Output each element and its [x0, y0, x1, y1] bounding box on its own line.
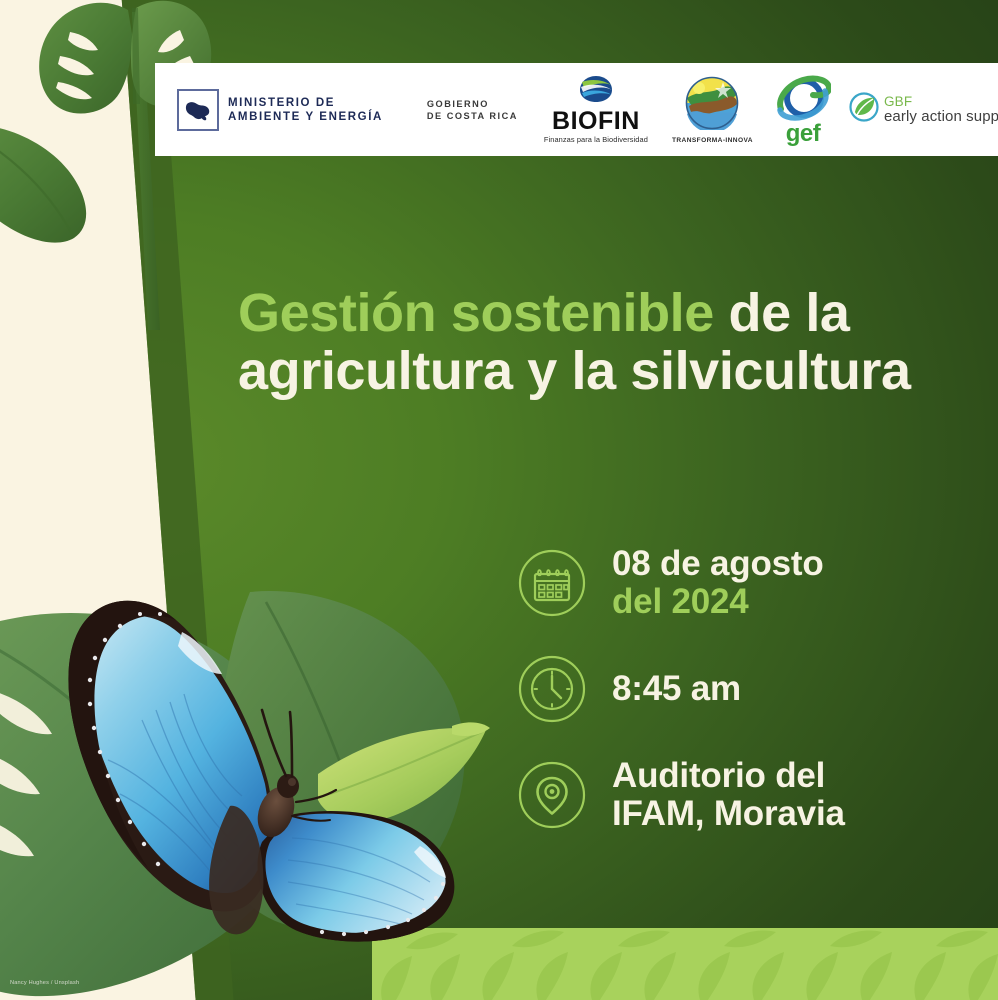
- date-line1: 08 de agosto: [612, 544, 824, 583]
- poster: MINISTERIO DE AMBIENTE Y ENERGÍA GOBIERN…: [0, 0, 998, 1000]
- costa-rica-map-icon: [177, 89, 219, 131]
- calendar-icon: [518, 549, 586, 617]
- logo-transforma-innova: TRANSFORMA-INNOVA: [672, 76, 753, 144]
- detail-row-date: 08 de agosto del 2024: [518, 545, 988, 621]
- transforma-label: TRANSFORMA-INNOVA: [672, 137, 753, 144]
- transforma-landscape-icon: [685, 76, 739, 135]
- logo-biofin: BIOFIN Finanzas para la Biodiversidad: [544, 76, 648, 144]
- gbf-label: GBF: [884, 95, 998, 109]
- detail-text-location: Auditorio del IFAM, Moravia: [612, 757, 845, 833]
- detail-row-time: 8:45 am: [518, 655, 988, 723]
- location-pin-icon: [518, 761, 586, 829]
- gbf-leaf-icon: [849, 92, 879, 127]
- location-line2: IFAM, Moravia: [612, 794, 845, 833]
- biofin-tagline: Finanzas para la Biodiversidad: [544, 135, 648, 144]
- clock-icon: [518, 655, 586, 723]
- photo-credit: Nancy Hughes / Unsplash: [10, 980, 79, 986]
- logo-gobierno-costa-rica: GOBIERNO DE COSTA RICA: [423, 98, 518, 122]
- detail-text-date: 08 de agosto del 2024: [612, 545, 824, 621]
- logo-gbf-early-action-support: GBF early action support: [849, 92, 998, 127]
- biofin-wordmark: BIOFIN: [552, 108, 640, 134]
- location-line1: Auditorio del: [612, 756, 825, 795]
- gef-wordmark: gef: [786, 124, 821, 144]
- event-details: 08 de agosto del 2024 8:45 am: [518, 545, 988, 833]
- gbf-sublabel: early action support: [884, 109, 998, 124]
- detail-text-time: 8:45 am: [612, 670, 741, 708]
- logo-minae: MINISTERIO DE AMBIENTE Y ENERGÍA: [177, 89, 383, 131]
- sponsor-logo-bar: MINISTERIO DE AMBIENTE Y ENERGÍA GOBIERN…: [155, 63, 998, 156]
- minae-label: MINISTERIO DE AMBIENTE Y ENERGÍA: [228, 96, 383, 124]
- date-line2: del 2024: [612, 582, 749, 621]
- biofin-droplet-icon: [578, 76, 614, 108]
- monstera-leaves-decoration: [0, 0, 230, 330]
- detail-row-location: Auditorio del IFAM, Moravia: [518, 757, 988, 833]
- gobierno-label: GOBIERNO DE COSTA RICA: [427, 98, 518, 122]
- butterfly-photo: [0, 570, 520, 1000]
- logo-gef: gef: [775, 75, 831, 144]
- headline-accent: Gestión sostenible: [238, 283, 714, 343]
- page-title: Gestión sostenible de la agricultura y l…: [238, 284, 938, 400]
